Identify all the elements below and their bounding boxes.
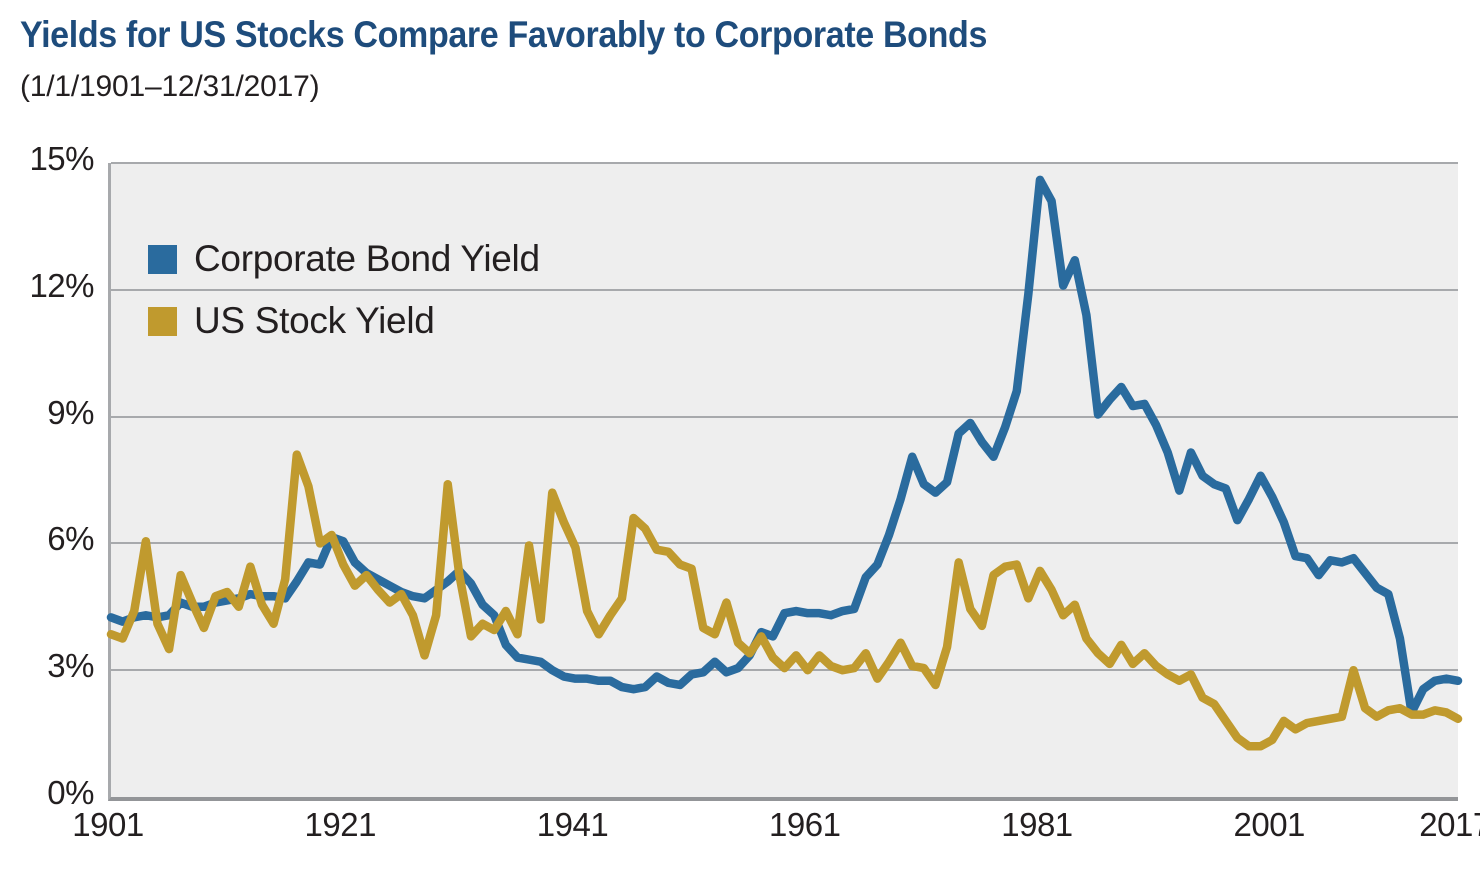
x-axis-label: 1901 <box>72 806 143 844</box>
y-axis-label: 15% <box>29 140 94 178</box>
y-axis-label: 12% <box>29 267 94 305</box>
chart-figure: 15%12%9%6%3%0% 1901192119411961198120012… <box>0 0 1480 878</box>
x-axis-label: 1941 <box>537 806 608 844</box>
chart-legend: Corporate Bond Yield US Stock Yield <box>148 228 540 352</box>
y-axis-label: 9% <box>47 394 94 432</box>
legend-label: Corporate Bond Yield <box>194 238 540 280</box>
legend-label: US Stock Yield <box>194 300 435 342</box>
y-axis-label: 6% <box>47 520 94 558</box>
legend-item-corporate-bond-yield: Corporate Bond Yield <box>148 228 540 290</box>
x-axis-label: 1921 <box>305 806 376 844</box>
legend-swatch-icon <box>148 245 177 274</box>
x-axis-label: 2001 <box>1233 806 1304 844</box>
x-axis-label: 1961 <box>769 806 840 844</box>
chart-page: Yields for US Stocks Compare Favorably t… <box>0 0 1480 878</box>
y-axis-label: 3% <box>47 647 94 685</box>
legend-swatch-icon <box>148 307 177 336</box>
x-axis-label: 1981 <box>1001 806 1072 844</box>
x-axis-label: 2017 <box>1419 806 1480 844</box>
series-line-us-stock-yield <box>111 455 1458 747</box>
legend-item-us-stock-yield: US Stock Yield <box>148 290 540 352</box>
